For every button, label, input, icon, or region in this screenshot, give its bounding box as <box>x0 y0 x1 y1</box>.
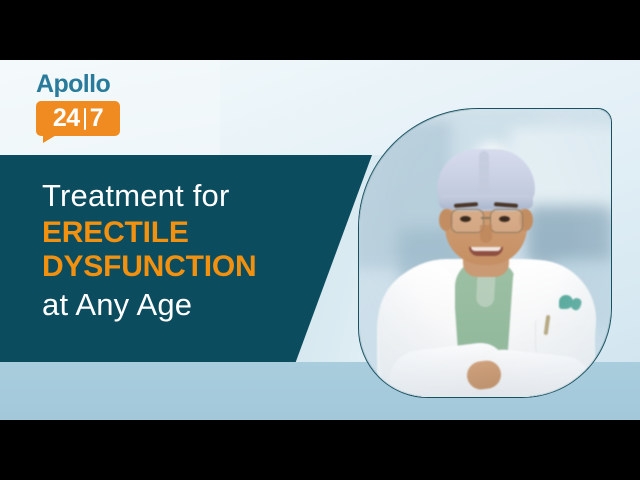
surgical-cap-fold <box>479 151 489 195</box>
coat-chest-logo <box>559 295 581 311</box>
teeth <box>471 247 501 251</box>
eye-right <box>499 216 510 222</box>
headline-line-4: at Any Age <box>42 289 332 320</box>
badge-separator-icon <box>84 108 86 130</box>
letterbox-bar-top <box>0 0 640 60</box>
eye-left <box>460 216 471 222</box>
badge-hours: 7 <box>90 106 103 131</box>
doctor-photo <box>358 108 612 398</box>
eyeglasses-bridge <box>481 217 491 219</box>
headline-line-3: DYSFUNCTION <box>42 252 332 282</box>
nose <box>480 225 492 243</box>
thumbnail-canvas: Apollo 24 7 Treatment for ERECTILE DYSFU… <box>0 60 640 420</box>
badge-number: 24 <box>53 106 80 131</box>
doctor-figure <box>359 109 611 397</box>
letterbox-bar-bottom <box>0 420 640 480</box>
surgical-cap-band <box>439 195 533 209</box>
coat-pocket <box>535 319 580 353</box>
badge-text: 24 7 <box>53 106 103 131</box>
headline-line-1: Treatment for <box>42 180 332 211</box>
headline-block: Treatment for ERECTILE DYSFUNCTION at An… <box>42 180 332 320</box>
apollo-247-badge: 24 7 <box>36 101 120 136</box>
apollo-wordmark: Apollo <box>36 72 146 97</box>
headline-line-2: ERECTILE <box>42 218 332 248</box>
video-thumbnail: Apollo 24 7 Treatment for ERECTILE DYSFU… <box>0 0 640 480</box>
apollo-logo: Apollo 24 7 <box>36 72 146 136</box>
